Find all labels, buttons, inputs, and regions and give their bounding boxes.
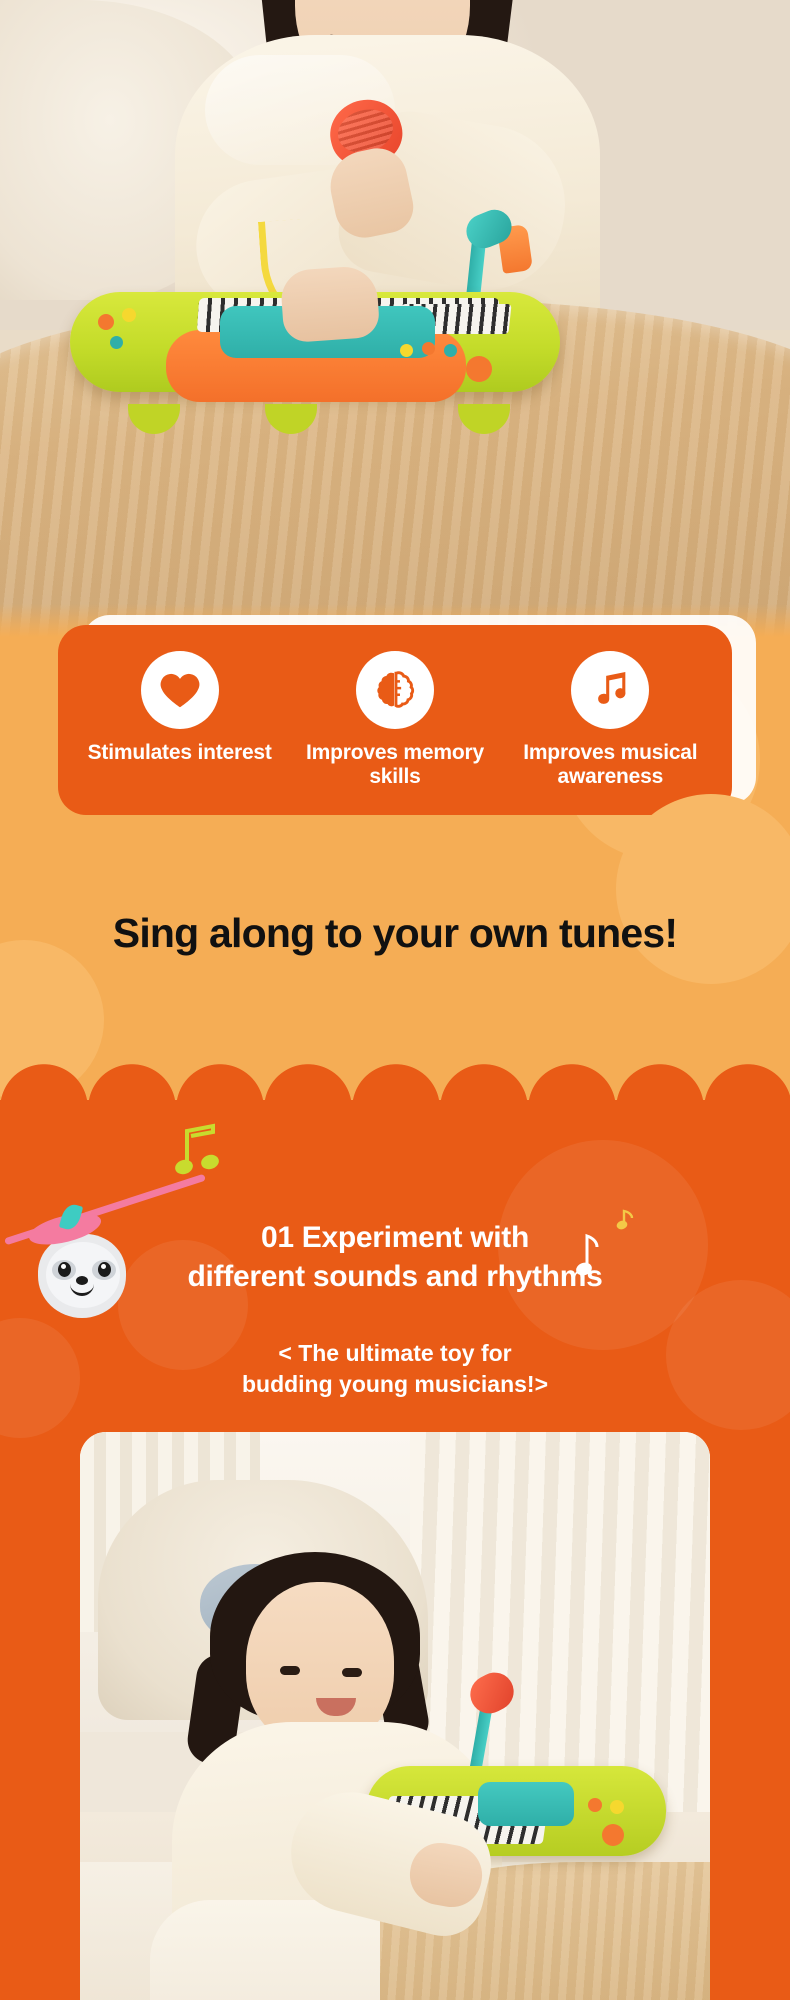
section-01-heading-line2: different sounds and rhythms	[0, 1257, 790, 1296]
child-hand-left	[280, 265, 381, 344]
photo-girl-eye-left	[280, 1666, 300, 1675]
toy-knob	[98, 314, 114, 330]
benefit-label: Improves memory skills	[295, 741, 495, 789]
headline-section: Sing along to your own tunes!	[0, 830, 790, 1060]
section-01-subtitle: < The ultimate toy for budding young mus…	[0, 1338, 790, 1400]
hero-product-photo	[0, 0, 790, 640]
beamed-note-yellow-icon	[175, 1122, 225, 1181]
section-01-subtitle-line1: < The ultimate toy for	[0, 1338, 790, 1369]
toy-knob	[444, 344, 457, 357]
photo-toy-teal-panel	[478, 1782, 574, 1826]
toy-dial	[466, 356, 492, 382]
benefits-card: Stimulates interest Improves memory skil…	[58, 625, 732, 815]
toy-knob	[110, 336, 123, 349]
benefit-label: Stimulates interest	[88, 741, 272, 765]
photo-girl-eye-right	[342, 1668, 362, 1677]
section-01-subtitle-line2: budding young musicians!>	[0, 1369, 790, 1400]
benefit-label: Improves musical awareness	[510, 741, 710, 789]
photo-toy-dial	[602, 1824, 624, 1846]
toy-knob	[122, 308, 136, 322]
section-01-heading: 01 Experiment with different sounds and …	[0, 1218, 790, 1296]
toy-knob	[422, 342, 435, 355]
benefit-item-memory-skills: Improves memory skills	[295, 651, 495, 789]
brain-icon	[356, 651, 434, 729]
benefit-item-stimulates-interest: Stimulates interest	[80, 651, 280, 765]
benefit-item-musical-awareness: Improves musical awareness	[510, 651, 710, 789]
heart-icon	[141, 651, 219, 729]
product-detail-page: Stimulates interest Improves memory skil…	[0, 0, 790, 2000]
photo-toy-knob	[588, 1798, 602, 1812]
music-notes-icon	[571, 651, 649, 729]
section-01: 01 Experiment with different sounds and …	[0, 1050, 790, 2000]
section-01-body: 01 Experiment with different sounds and …	[0, 1100, 790, 2000]
page-headline: Sing along to your own tunes!	[0, 910, 790, 957]
section-01-photo	[80, 1432, 710, 2000]
toy-knob	[400, 344, 413, 357]
photo-toy-knob	[610, 1800, 624, 1814]
section-01-heading-line1: 01 Experiment with	[0, 1218, 790, 1257]
